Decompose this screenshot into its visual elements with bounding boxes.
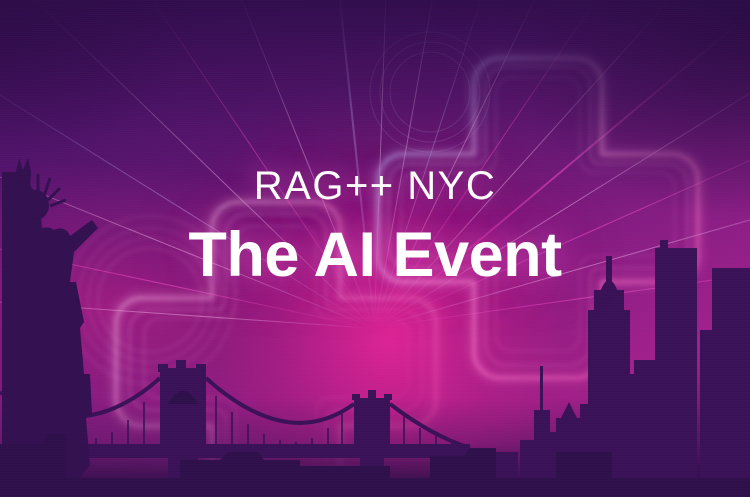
poster-text-block: RAG++ NYC The AI Event [0,166,750,287]
event-poster: RAG++ NYC The AI Event [0,0,750,497]
event-eyebrow-text: RAG++ NYC [0,166,750,206]
page-title: The AI Event [0,224,750,287]
